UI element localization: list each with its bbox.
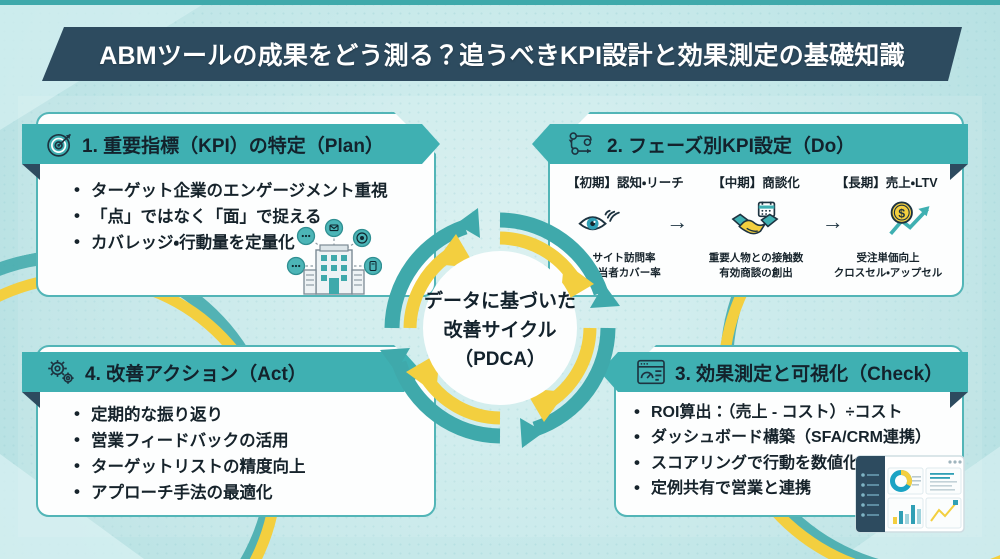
caption-line: 受注単価向上 — [857, 252, 920, 264]
pdca-line-2: 改善サイクル — [443, 315, 556, 342]
dashboard-screen-illustration — [855, 455, 965, 538]
target-icon — [46, 131, 73, 158]
list-item: 営業フィードバックの活用 — [72, 428, 306, 454]
list-item: 定期的な振り返り — [72, 402, 306, 428]
list-item: ターゲット企業のエンゲージメント重視 — [72, 178, 388, 204]
pdca-cycle: データに基づいた 改善サイクル （PDCA） — [368, 196, 632, 460]
phase-label-middle: 【中期】商談化 — [691, 172, 822, 191]
phase-caption-middle: 重要人物との接触数 有効商談の創出 — [690, 251, 822, 281]
infographic-canvas: ABMツールの成果をどう測る？追うべきKPI設計と効果測定の基礎知識 1. 重要… — [0, 0, 1000, 559]
bullet-list-act: 定期的な振り返り 営業フィードバックの活用 ターゲットリストの精度向上 アプロー… — [72, 402, 306, 506]
list-item: アプローチ手法の最適化 — [72, 480, 306, 506]
top-accent-strip — [0, 0, 1000, 5]
card-header-act: 4. 改善アクション（Act） — [22, 352, 422, 392]
phase-label-row: 【初期】認知・リーチ 【中期】商談化 【長期】売上・LTV — [556, 172, 956, 191]
coin-growth-arrow-icon: $ — [887, 200, 935, 245]
card-header-do: 2. フェーズ別KPI設定（Do） — [532, 124, 968, 164]
card-header-check: 3. 効果測定と可視化（Check） — [600, 352, 968, 392]
phase-arrow-2: → — [822, 209, 844, 235]
pdca-center-text: データに基づいた 改善サイクル （PDCA） — [368, 196, 632, 460]
page-title-bar: ABMツールの成果をどう測る？追うべきKPI設計と効果測定の基礎知識 — [42, 27, 962, 81]
phase-caption-long: 受注単価向上 クロスセル・アップセル — [822, 251, 954, 281]
handshake-calendar-icon — [731, 200, 779, 245]
phase-label-long: 【長期】売上・LTV — [821, 172, 952, 191]
pdca-line-3: （PDCA） — [454, 344, 546, 371]
dashboard-monitor-icon — [636, 359, 666, 385]
caption-line: クロスセル・アップセル — [834, 267, 943, 279]
phase-label-initial: 【初期】認知・リーチ — [560, 172, 691, 191]
list-item: ROI算出：（売上 - コスト）÷コスト — [632, 400, 931, 425]
caption-line: 重要人物との接触数 — [709, 252, 803, 264]
list-item: ターゲットリストの精度向上 — [72, 454, 306, 480]
list-item: ダッシュボード構築（SFA/CRM連携） — [632, 425, 931, 450]
svg-text:$: $ — [898, 206, 905, 220]
pdca-line-1: データに基づいた — [424, 286, 576, 313]
card-header-act-label: 4. 改善アクション（Act） — [85, 359, 307, 386]
caption-line: 有効商談の創出 — [719, 267, 793, 279]
phase-arrow-1: → — [666, 209, 688, 235]
card-header-plan: 1. 重要指標（KPI）の特定（Plan） — [22, 124, 440, 164]
page-title: ABMツールの成果をどう測る？追うべきKPI設計と効果測定の基礎知識 — [99, 36, 904, 72]
flow-nodes-icon — [568, 131, 598, 157]
card-header-do-label: 2. フェーズ別KPI設定（Do） — [607, 131, 855, 158]
gears-icon — [46, 358, 76, 386]
card-header-check-label: 3. 効果測定と可視化（Check） — [675, 359, 943, 386]
card-header-plan-label: 1. 重要指標（KPI）の特定（Plan） — [82, 131, 384, 158]
